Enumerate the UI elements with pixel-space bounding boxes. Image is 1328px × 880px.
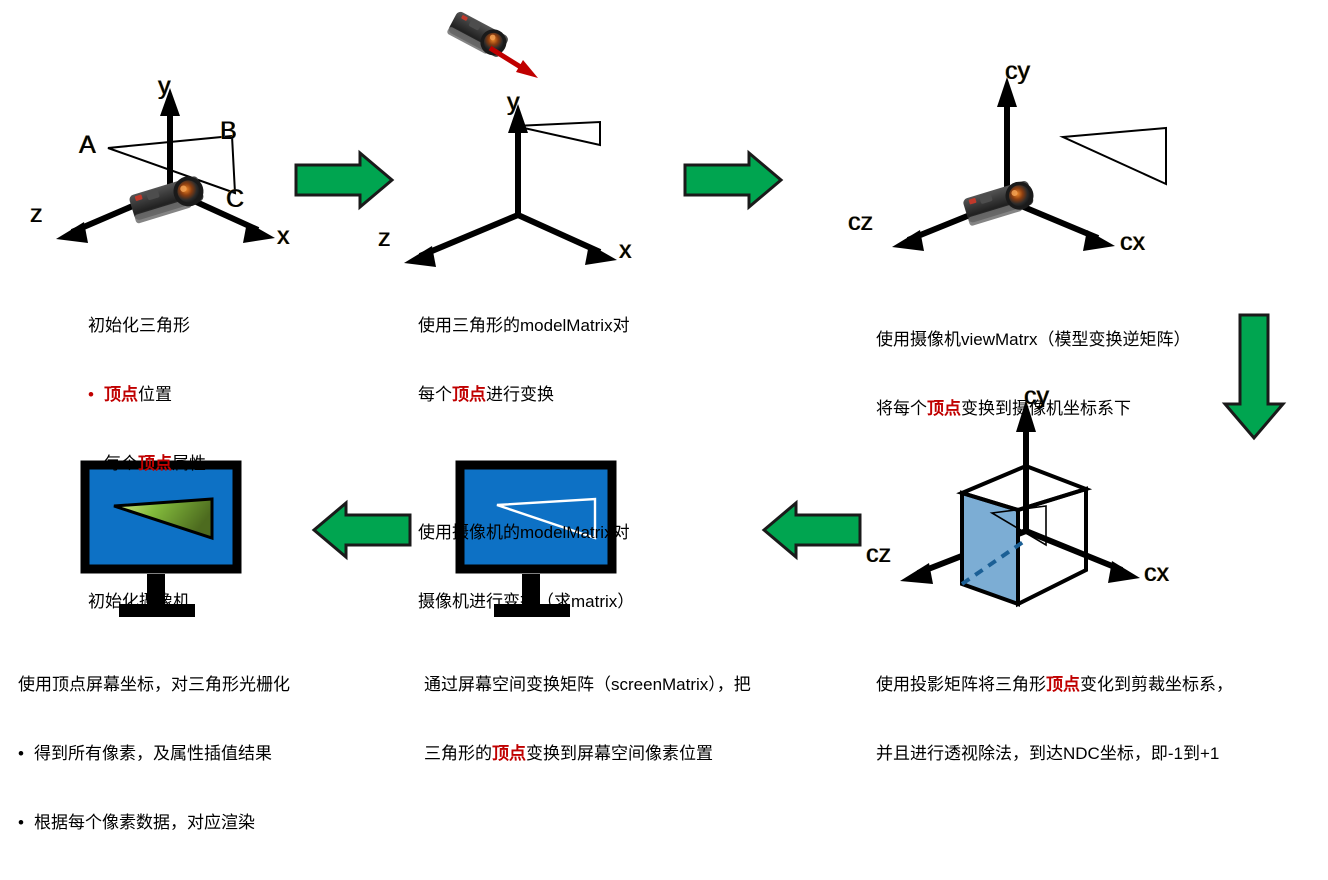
stage1-caption-line1: 初始化三角形 [88,314,206,337]
stage2-triangle [515,122,600,145]
arrow-left-4 [764,503,860,557]
stage4-line1-highlight: 顶点 [1046,675,1080,694]
stage4-line1-post: 变化到剪裁坐标系， [1080,675,1233,694]
stage1-axis-label-z: z [30,200,43,229]
stage5-line2-highlight: 顶点 [492,744,526,763]
bullet-dot-icon: • [18,811,34,834]
arrow-right-1 [296,153,392,207]
stage2-line2-highlight: 顶点 [452,385,486,404]
stage3-caption-line1: 使用摄像机viewMatrx（模型变换逆矩阵） [876,328,1191,351]
stage1-bullet2-post: 属性 [172,454,206,473]
stage2-axis-label-z: z [378,224,391,253]
stage1-bullet1-highlight: 顶点 [104,385,138,404]
stage2-caption-line2: 每个顶点进行变换 [418,383,634,406]
stage1-axis-label-x: x [277,222,290,251]
stage2-axis-label-x: x [619,236,632,265]
stage3-line2-pre: 将每个 [876,399,927,418]
stage1-vertex-label-c: C [226,185,244,214]
stage1-bullet2-pre: 每个 [104,454,138,473]
pipeline-diagram: y z x A B C y z x cy cz cx cy cz cx 初始化三… [0,0,1328,727]
stage5-caption-line2: 三角形的顶点变换到屏幕空间像素位置 [424,742,751,765]
arrow-down-3 [1225,315,1283,438]
stage3-axis-label-cx: cx [1120,228,1145,257]
stage5-line2-post: 变换到屏幕空间像素位置 [526,744,713,763]
stage2-caption-line1: 使用三角形的modelMatrix对 [418,314,634,337]
stage1-bullet1-post: 位置 [138,385,172,404]
stage3-caption-line2: 将每个顶点变换到摄像机坐标系下 [876,397,1191,420]
caption-spacer [88,521,206,544]
stage4-ndc-cube [962,466,1086,604]
bullet-dot-icon: • [88,452,104,475]
stage4-axis-label-cx: cx [1144,559,1169,588]
stage6-caption-bullet1: • 得到所有像素，及属性插值结果 [18,742,290,765]
stage1-bullet2-highlight: 顶点 [138,454,172,473]
stage2-line2-post: 进行变换 [486,385,554,404]
stage2-line2-pre: 每个 [418,385,452,404]
stage3-axes [892,77,1115,251]
stage3-caption: 使用摄像机viewMatrx（模型变换逆矩阵） 将每个顶点变换到摄像机坐标系下 [876,282,1191,466]
arrow-right-2 [685,153,781,207]
stage1-axes [56,88,275,243]
stage1-axis-label-y: y [158,72,171,101]
arrow-left-5 [314,503,410,557]
stage4-axis-label-cz: cz [866,540,891,569]
stage6-caption: 使用顶点屏幕坐标，对三角形光栅化 • 得到所有像素，及属性插值结果 • 根据每个… [18,627,290,880]
stage3-axis-label-cz: cz [848,208,873,237]
stage5-caption: 通过屏幕空间变换矩阵（screenMatrix），把 三角形的顶点变换到屏幕空间… [424,627,751,811]
stage6-bullet1-text: 得到所有像素，及属性插值结果 [34,742,272,765]
stage3-line2-highlight: 顶点 [927,399,961,418]
stage2-caption-line4: 摄像机进行变换（求matrix） [418,590,634,613]
stage4-caption: 使用投影矩阵将三角形顶点变化到剪裁坐标系， 并且进行透视除法，到达NDC坐标，即… [876,627,1233,811]
stage5-line2-pre: 三角形的 [424,744,492,763]
stage1-vertex-label-a: A [79,131,96,160]
stage1-caption-line2: 初始化摄像机 [88,590,206,613]
stage6-caption-bullet2: • 根据每个像素数据，对应渲染 [18,811,290,834]
stage3-camera-icon [962,178,1037,226]
stage2-axes [404,104,617,267]
stage4-line1-pre: 使用投影矩阵将三角形 [876,675,1046,694]
bullet-dot-icon: • [18,742,34,765]
stage1-caption-bullet1: • 顶点位置 [88,383,206,406]
stage2-view-direction-arrow [490,48,538,78]
stage4-caption-line2: 并且进行透视除法，到达NDC坐标，即-1到+1 [876,742,1233,765]
stage3-triangle [1063,128,1166,184]
stage1-caption: 初始化三角形 • 顶点位置 • 每个顶点属性 初始化摄像机 [88,268,206,659]
caption-spacer [418,452,634,475]
stage3-axis-label-cy: cy [1005,57,1030,86]
stage6-caption-line1: 使用顶点屏幕坐标，对三角形光栅化 [18,673,290,696]
stage1-vertex-label-b: B [220,117,237,146]
stage2-axis-label-y: y [507,88,520,117]
stage6-bullet2-text: 根据每个像素数据，对应渲染 [34,811,255,834]
stage3-line2-post: 变换到摄像机坐标系下 [961,399,1131,418]
stage2-caption-line3: 使用摄像机的modelMatrix对 [418,521,634,544]
bullet-dot-icon: • [88,383,104,406]
stage4-caption-line1: 使用投影矩阵将三角形顶点变化到剪裁坐标系， [876,673,1233,696]
stage5-caption-line1: 通过屏幕空间变换矩阵（screenMatrix），把 [424,673,751,696]
stage1-caption-bullet2: • 每个顶点属性 [88,452,206,475]
stage2-caption: 使用三角形的modelMatrix对 每个顶点进行变换 使用摄像机的modelM… [418,268,634,659]
